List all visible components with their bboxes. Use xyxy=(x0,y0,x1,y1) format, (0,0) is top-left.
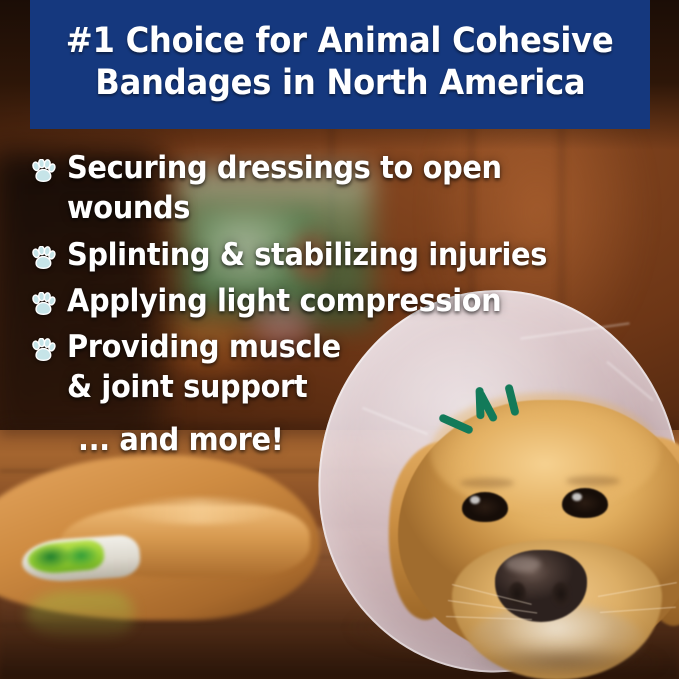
dog-left-eye-highlight xyxy=(470,496,480,504)
list-item-label-line2: & joint support xyxy=(67,367,341,407)
dog-chin-shadow xyxy=(430,648,679,679)
dog-right-nostril xyxy=(552,582,570,606)
list-item: Providing muscle & joint support xyxy=(30,327,670,408)
headline-line-2: Bandages in North America xyxy=(95,63,585,104)
paw-print-icon xyxy=(30,159,56,185)
and-more-label: ... and more! xyxy=(78,422,629,458)
dog-nose-highlight xyxy=(505,556,541,572)
list-item-label: Securing dressings to open wounds xyxy=(67,148,628,229)
headline-line-1: #1 Choice for Animal Cohesive xyxy=(66,21,614,62)
dog-left-brow xyxy=(460,478,514,488)
paw-print-icon xyxy=(30,338,56,364)
list-item-label: Applying light compression xyxy=(67,281,501,321)
paw-print-icon xyxy=(30,292,56,318)
list-item: Securing dressings to open wounds xyxy=(30,148,670,229)
bandaged-paw-reflection xyxy=(26,592,134,638)
product-feature-graphic: #1 Choice for Animal Cohesive Bandages i… xyxy=(0,0,679,679)
list-item-label: Splinting & stabilizing injuries xyxy=(67,235,547,275)
paw-print-icon xyxy=(30,246,56,272)
list-item: Splinting & stabilizing injuries xyxy=(30,235,670,275)
dog-left-eye xyxy=(462,492,508,522)
dog-fur-highlight xyxy=(120,498,280,524)
dog-right-brow xyxy=(566,476,620,486)
list-item: Applying light compression xyxy=(30,281,670,321)
benefits-list: Securing dressings to open wounds Splint… xyxy=(30,148,670,458)
dog-right-eye-highlight xyxy=(572,493,582,501)
dog-right-eye xyxy=(562,488,608,518)
list-item-label: Providing muscle xyxy=(67,327,341,367)
headline-banner: #1 Choice for Animal Cohesive Bandages i… xyxy=(30,0,650,129)
